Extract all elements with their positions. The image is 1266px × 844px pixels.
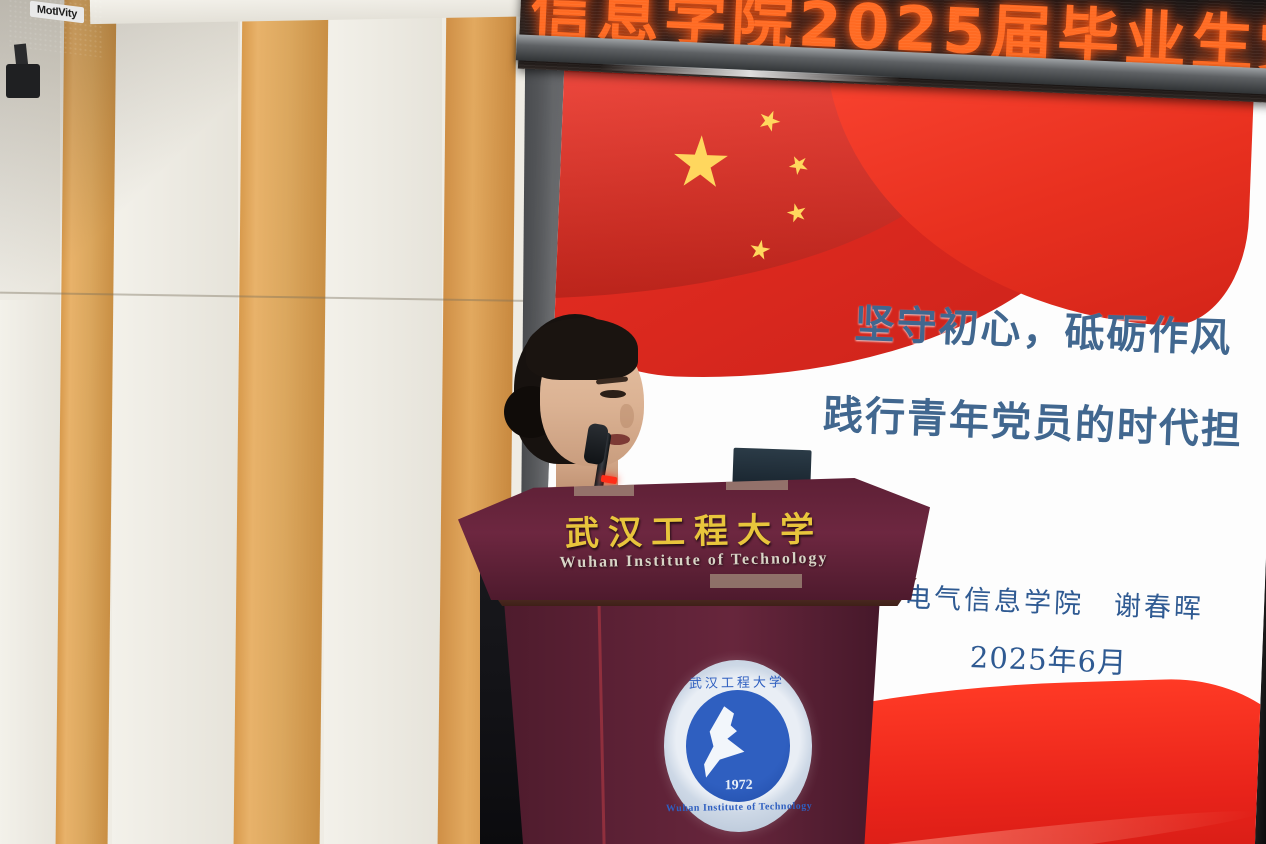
podium-tape-strip: [710, 574, 802, 588]
person-hair-front: [526, 318, 638, 380]
wall-panel-wood: [56, 0, 117, 844]
wall-panel-white: [324, 0, 442, 844]
podium-tape-strip: [574, 484, 634, 496]
lectern-podium: 武汉工程大学 1972 Wuhan Institute of Technolog…: [440, 470, 940, 844]
wall-speaker: MotIVity: [2, 0, 106, 98]
wall-panel-white: [112, 0, 238, 844]
speaker-bracket: [6, 64, 40, 98]
presentation-scene: MotIVity 坚守初心，砥砺作风 践行青年党员的时代担 电气信息学院 谢春晖…: [0, 0, 1266, 844]
person-eye: [600, 390, 626, 398]
wall-panel-white: [0, 0, 60, 844]
emblem-year: 1972: [665, 777, 813, 796]
university-emblem: 武汉工程大学 1972 Wuhan Institute of Technolog…: [663, 659, 814, 834]
podium-tape-strip: [726, 478, 788, 490]
podium-front-panel: 武汉工程大学 Wuhan Institute of Technology: [458, 478, 930, 600]
wall-panel-wood: [234, 0, 329, 844]
person-nose: [620, 404, 634, 428]
